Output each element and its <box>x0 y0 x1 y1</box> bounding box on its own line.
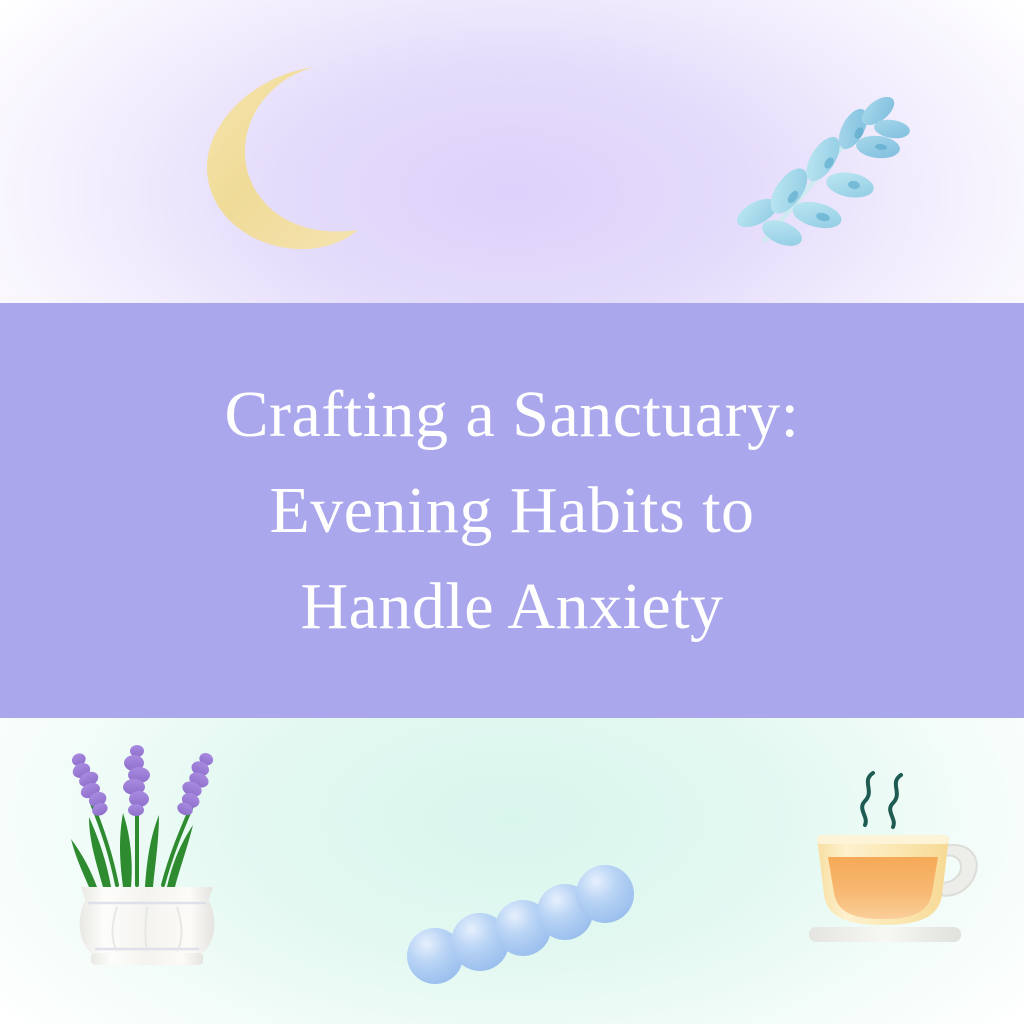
title-line-3: Handle Anxiety <box>0 559 1024 655</box>
botanical-sprig-icon <box>735 85 910 265</box>
title-line-1: Crafting a Sanctuary: <box>0 367 1024 463</box>
crescent-moon-icon <box>195 55 375 255</box>
title-line-2: Evening Habits to <box>0 463 1024 559</box>
stacked-stones-icon <box>405 860 635 985</box>
lavender-plant-icon <box>45 735 250 970</box>
tea-cup-icon <box>795 765 995 950</box>
page-title: Crafting a Sanctuary: Evening Habits to … <box>0 367 1024 655</box>
title-banner: Crafting a Sanctuary: Evening Habits to … <box>0 303 1024 718</box>
poster-canvas: Crafting a Sanctuary: Evening Habits to … <box>0 0 1024 1024</box>
